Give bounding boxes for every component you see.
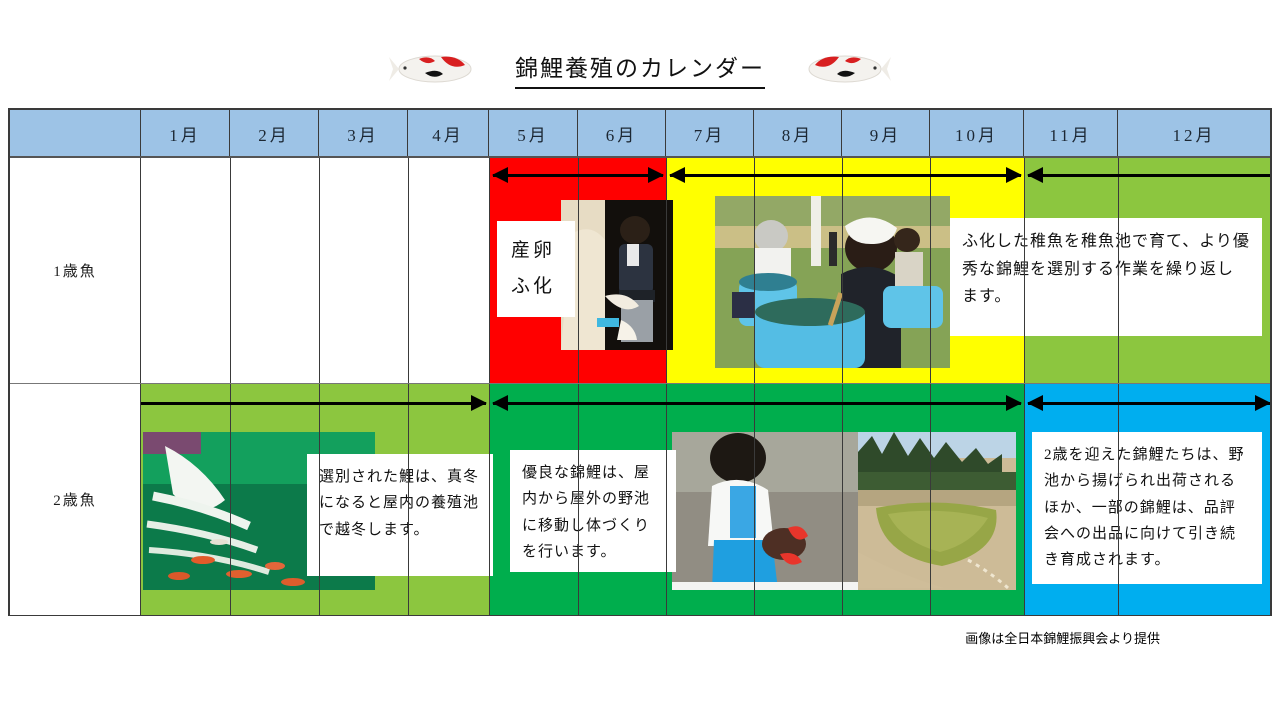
breeding-calendar-table: 1月 2月 3月 4月 5月 6月 7月 8月 9月 10月 11月 12月 1… bbox=[8, 108, 1272, 616]
row-label-2saigyo: 2歳魚 bbox=[10, 384, 141, 615]
koi-fish-icon bbox=[389, 47, 485, 91]
mud-pond-photo bbox=[858, 432, 1016, 590]
header-month-3: 3月 bbox=[319, 110, 408, 156]
header-corner-cell bbox=[10, 110, 141, 156]
calendar-row-2saigyo: 2歳魚 bbox=[10, 383, 1270, 615]
outdoor-move-note: 優良な錦鯉は、屋内から屋外の野池に移動し体づくりを行います。 bbox=[510, 450, 676, 572]
header-month-10: 10月 bbox=[930, 110, 1024, 156]
fry-sorting-photo bbox=[715, 196, 950, 368]
header-month-5: 5月 bbox=[489, 110, 578, 156]
row-label-1saigyo: 1歳魚 bbox=[10, 158, 141, 383]
header-month-6: 6月 bbox=[578, 110, 666, 156]
shipping-note: 2歳を迎えた錦鯉たちは、野池から揚げられ出荷されるほか、一部の錦鯉は、品評会への… bbox=[1032, 432, 1262, 584]
header-month-11: 11月 bbox=[1024, 110, 1118, 156]
header-month-7: 7月 bbox=[666, 110, 754, 156]
koi-fish-icon bbox=[795, 47, 891, 91]
image-credit: 画像は全日本錦鯉振興会より提供 bbox=[0, 628, 1160, 647]
header-month-12: 12月 bbox=[1118, 110, 1270, 156]
wintering-note: 選別された鯉は、真冬になると屋内の養殖池で越冬します。 bbox=[307, 454, 493, 576]
calendar-row-1saigyo: 1歳魚 bbox=[10, 158, 1270, 383]
spawning-label-line2: ふ化 bbox=[511, 269, 561, 305]
pond-harvest-photo bbox=[672, 432, 858, 590]
fry-selection-note: ふ化した稚魚を稚魚池で育て、より優秀な錦鯉を選別する作業を繰り返します。 bbox=[950, 218, 1262, 336]
page-title-bar: 錦鯉養殖のカレンダー bbox=[0, 38, 1280, 100]
header-month-2: 2月 bbox=[230, 110, 319, 156]
calendar-header-row: 1月 2月 3月 4月 5月 6月 7月 8月 9月 10月 11月 12月 bbox=[10, 110, 1270, 158]
spawning-label: 産卵 ふ化 bbox=[497, 221, 575, 317]
header-month-1: 1月 bbox=[141, 110, 230, 156]
page-title: 錦鯉養殖のカレンダー bbox=[515, 49, 765, 89]
header-month-9: 9月 bbox=[842, 110, 930, 156]
header-month-4: 4月 bbox=[408, 110, 489, 156]
header-month-8: 8月 bbox=[754, 110, 842, 156]
spawning-label-line1: 産卵 bbox=[511, 233, 561, 269]
